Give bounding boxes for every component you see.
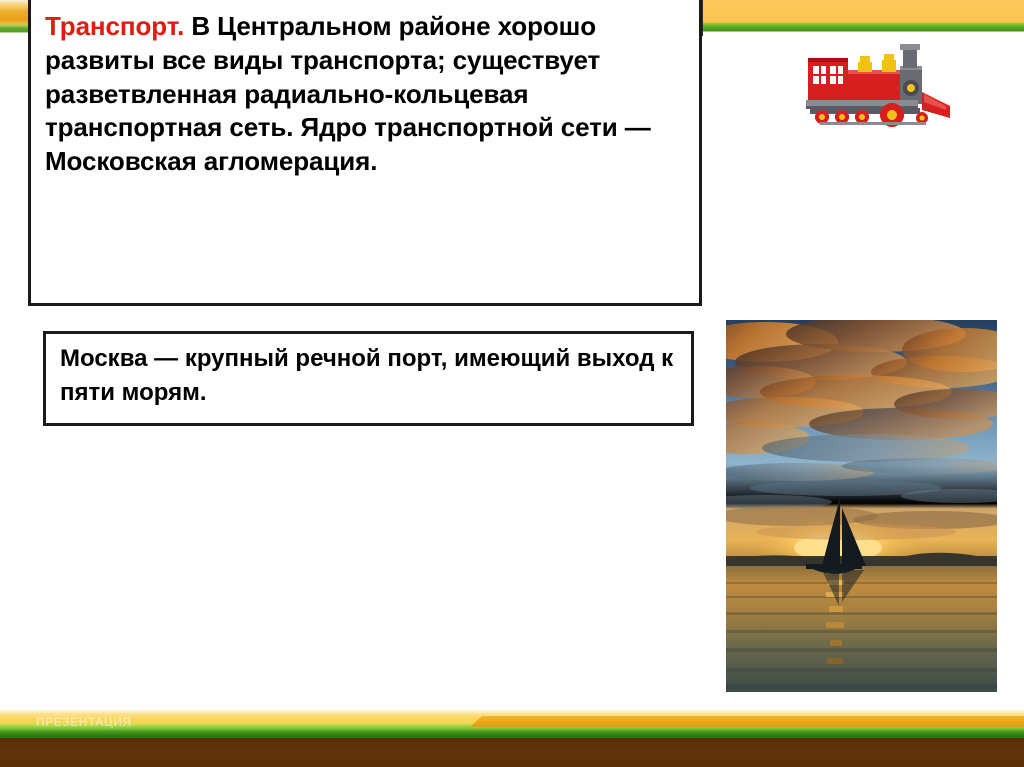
top-banner-right-segment bbox=[700, 0, 1024, 36]
train-icon bbox=[800, 44, 958, 136]
secondary-text-paragraph: Москва — крупный речной порт, имеющий вы… bbox=[60, 342, 677, 410]
top-banner-left-segment bbox=[0, 0, 30, 36]
main-text-box: Транспорт. В Центральном районе хорошо р… bbox=[28, 0, 702, 306]
bottom-banner-watermark: ПРЕЗЕНТАЦИЯ bbox=[36, 715, 132, 729]
bottom-banner-brown-stripe bbox=[0, 738, 1024, 767]
main-text-paragraph: Транспорт. В Центральном районе хорошо р… bbox=[45, 10, 685, 179]
bottom-banner-green-stripe bbox=[0, 731, 1024, 738]
slide-canvas: Транспорт. В Центральном районе хорошо р… bbox=[0, 0, 1024, 767]
bottom-banner: ПРЕЗЕНТАЦИЯ bbox=[0, 709, 1024, 767]
main-text-keyword: Транспорт. bbox=[45, 11, 184, 41]
secondary-text-box: Москва — крупный речной порт, имеющий вы… bbox=[43, 331, 694, 426]
bottom-banner-accent-stripe bbox=[470, 716, 1024, 727]
sunset-sailboat-photo bbox=[726, 320, 997, 692]
